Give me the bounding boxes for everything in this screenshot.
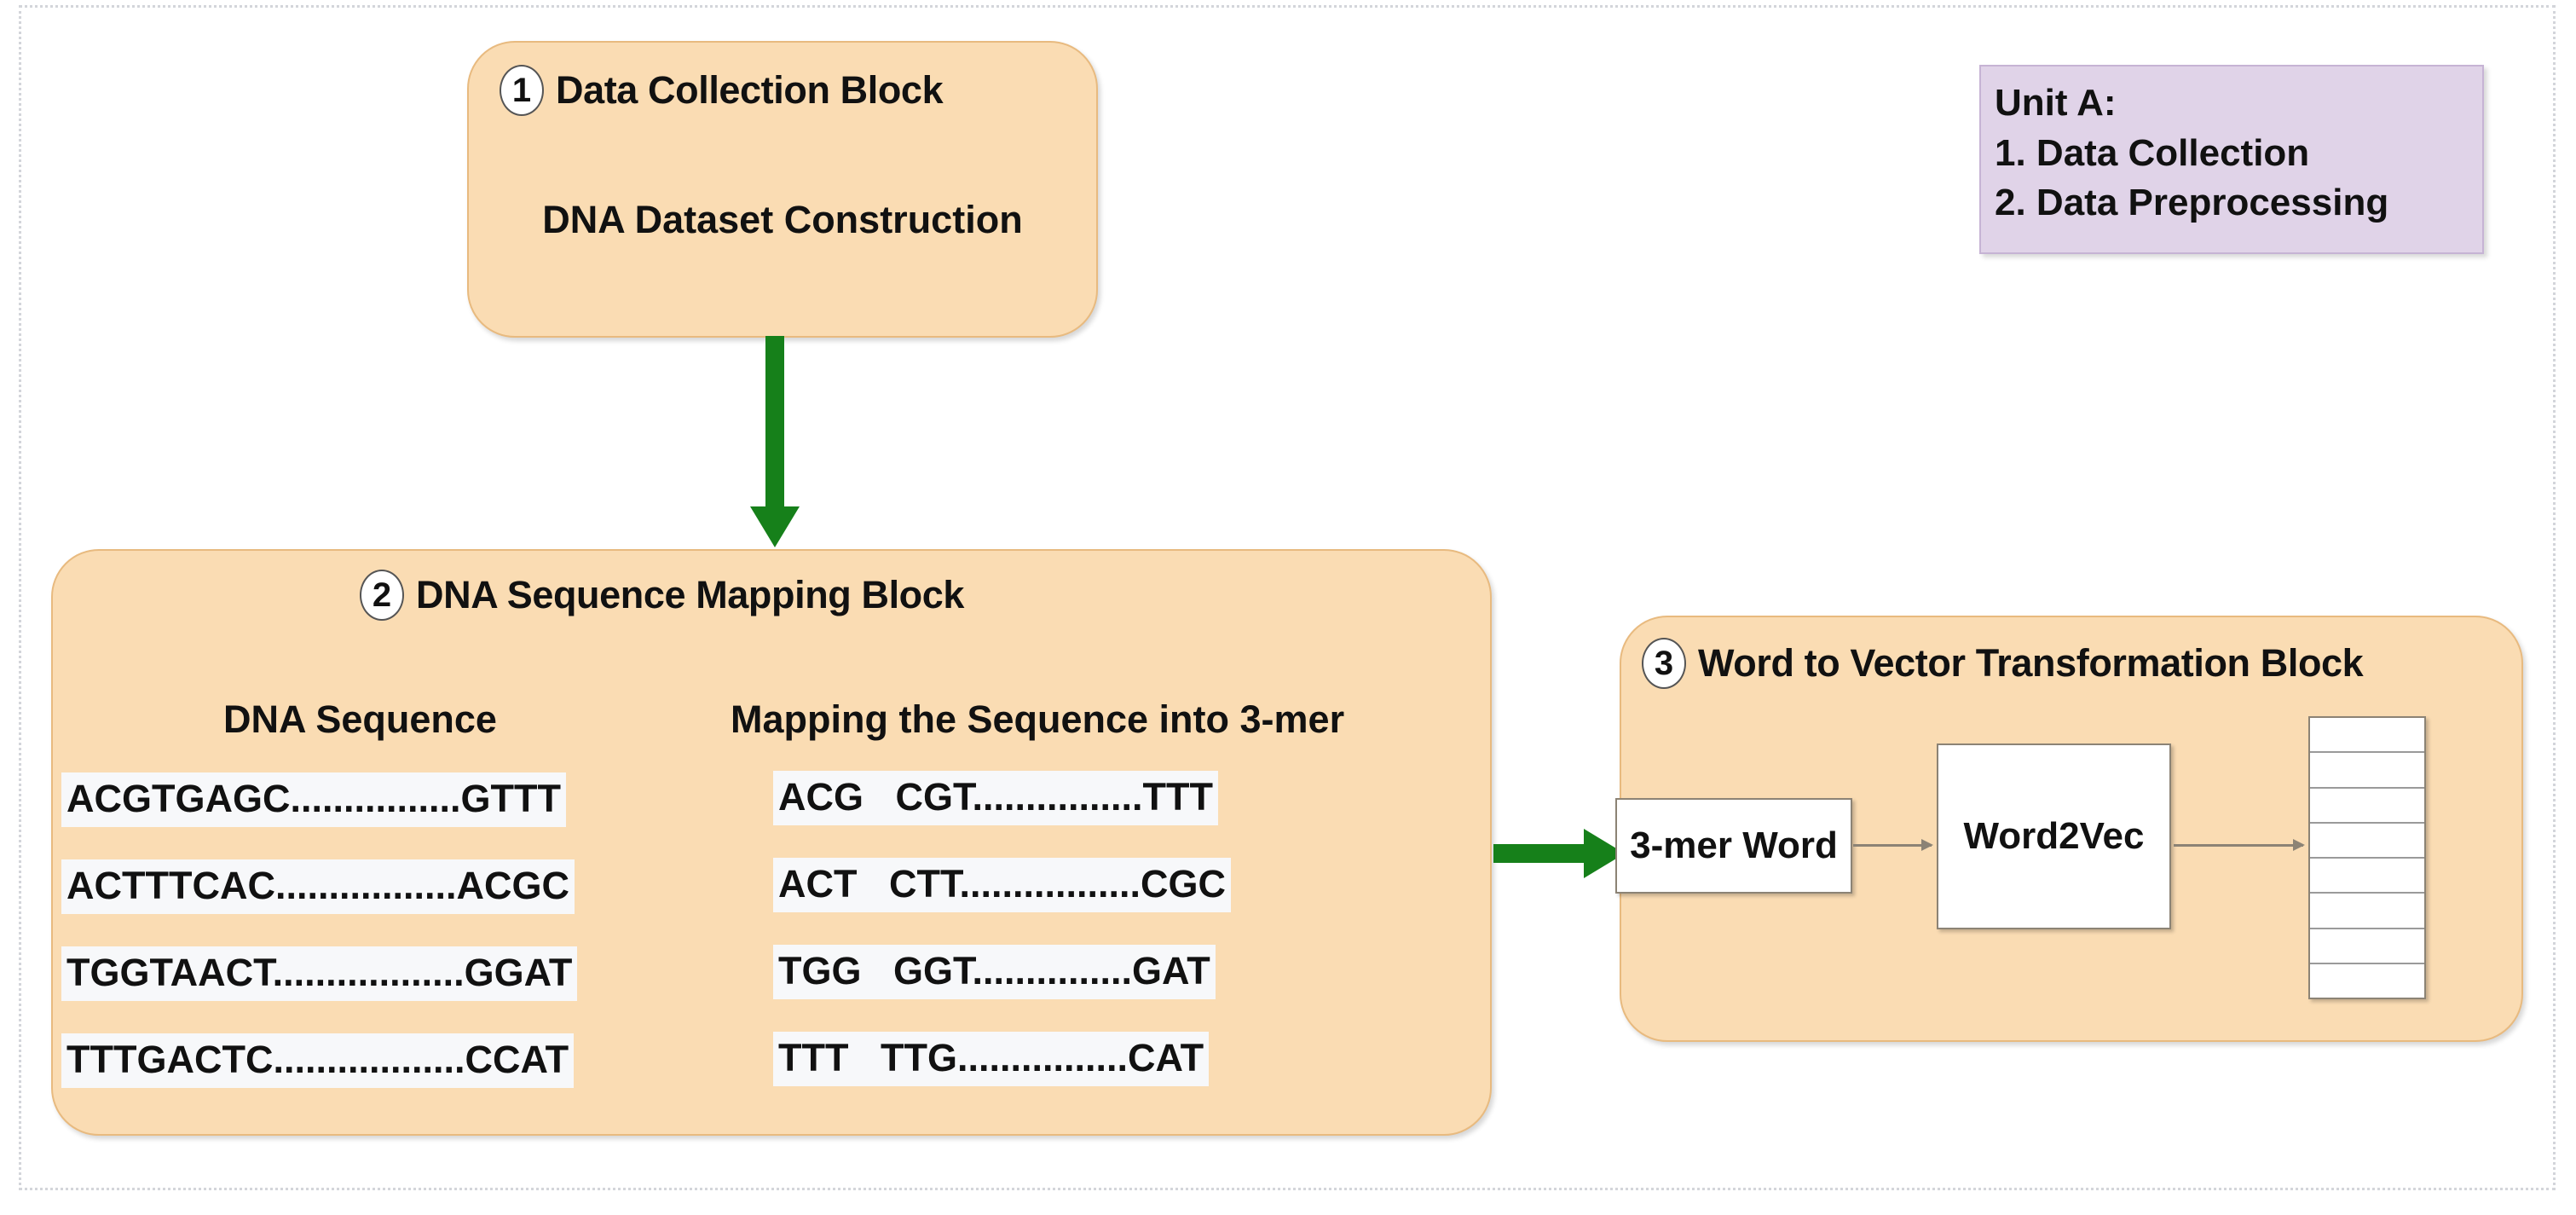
dna-sequence-row: TTTGACTC..................CCAT: [61, 1033, 574, 1088]
vector-cell: [2310, 929, 2424, 964]
dna-sequence-row: ACTTTCAC.................ACGC: [61, 859, 575, 914]
arrow-down-block1-to-block2: [765, 336, 784, 506]
dna-sequence-row: TGGTAACT..................GGAT: [61, 946, 577, 1001]
block-1-header: 1 Data Collection Block: [500, 65, 943, 116]
kmer-sequence-row: ACG CGT................TTT: [773, 771, 1218, 825]
data-collection-block[interactable]: 1 Data Collection Block DNA Dataset Cons…: [467, 41, 1098, 338]
vector-cell: [2310, 894, 2424, 929]
step-number-badge-2: 2: [360, 570, 404, 621]
vector-cell: [2310, 753, 2424, 788]
dna-sequence-list: ACGTGAGC................GTTT ACTTTCAC...…: [61, 772, 564, 1120]
word2vec-box[interactable]: Word2Vec: [1937, 743, 2171, 929]
diagram-canvas: 1 Data Collection Block DNA Dataset Cons…: [0, 0, 2576, 1215]
step-number-badge-1: 1: [500, 65, 544, 116]
unit-a-legend-box: Unit A: 1. Data Collection 2. Data Prepr…: [1979, 65, 2484, 254]
kmer-sequence-row: ACT CTT.................CGC: [773, 858, 1231, 912]
vector-cell: [2310, 789, 2424, 824]
dna-sequence-column-header: DNA Sequence: [223, 697, 497, 742]
arrow-right-kmer-word-to-word2vec: [1853, 844, 1932, 847]
vector-cell: [2310, 824, 2424, 859]
legend-item-1: 1. Data Collection: [1995, 129, 2482, 179]
kmer-sequence-row: TTT TTG................CAT: [773, 1032, 1209, 1086]
arrow-right-block2-to-block3: [1493, 844, 1584, 863]
step-number-badge-3: 3: [1642, 638, 1686, 689]
vector-cell: [2310, 964, 2424, 998]
vector-cell: [2310, 859, 2424, 894]
block-3-header: 3 Word to Vector Transformation Block: [1642, 638, 2363, 689]
block-1-subtitle: DNA Dataset Construction: [469, 198, 1096, 242]
kmer-mapping-column-header: Mapping the Sequence into 3-mer: [731, 697, 1344, 742]
kmer-sequence-list: ACG CGT................TTT ACT CTT......…: [773, 771, 1302, 1119]
block-3-title: Word to Vector Transformation Block: [1698, 641, 2363, 686]
output-vector-column: [2308, 716, 2426, 999]
block-2-title: DNA Sequence Mapping Block: [416, 573, 964, 617]
dna-sequence-row: ACGTGAGC................GTTT: [61, 772, 566, 827]
arrow-right-word2vec-to-vector: [2174, 844, 2303, 847]
legend-title: Unit A:: [1995, 78, 2482, 129]
kmer-word-box[interactable]: 3-mer Word: [1615, 798, 1852, 894]
vector-cell: [2310, 718, 2424, 753]
word-to-vector-transformation-block[interactable]: 3 Word to Vector Transformation Block 3-…: [1620, 616, 2523, 1042]
block-1-title: Data Collection Block: [556, 68, 943, 113]
kmer-sequence-row: TGG GGT...............GAT: [773, 945, 1216, 999]
block-2-header: 2 DNA Sequence Mapping Block: [360, 570, 964, 621]
legend-item-2: 2. Data Preprocessing: [1995, 178, 2482, 229]
dna-sequence-mapping-block[interactable]: 2 DNA Sequence Mapping Block DNA Sequenc…: [51, 549, 1492, 1136]
